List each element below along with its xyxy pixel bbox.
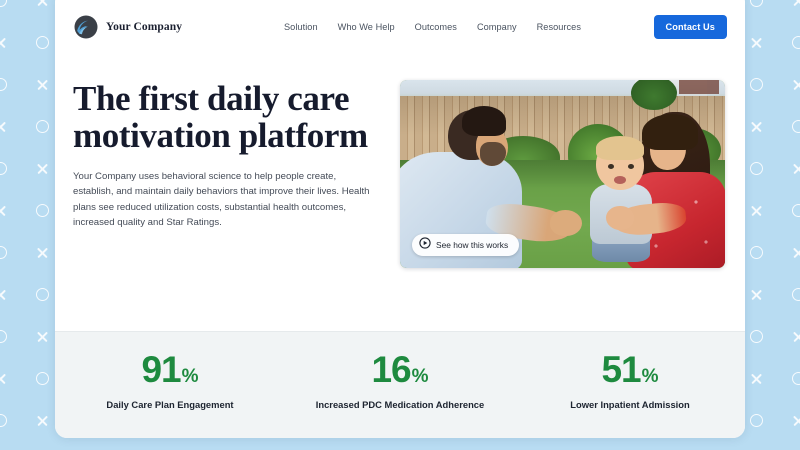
pattern-cross-icon (750, 372, 763, 385)
pattern-cross-icon (0, 36, 7, 49)
play-circle-icon (419, 236, 431, 254)
site-header: Your Company Solution Who We Help Outcom… (55, 0, 745, 53)
stat-unit: % (642, 366, 659, 387)
pattern-cross-icon (792, 78, 800, 91)
pattern-circle-icon (36, 36, 49, 49)
nav-item-resources[interactable]: Resources (537, 22, 581, 32)
page-title: The first daily care motivation platform (73, 80, 385, 155)
pattern-cross-icon (750, 36, 763, 49)
contact-us-button[interactable]: Contact Us (654, 15, 728, 39)
pattern-cross-icon (36, 78, 49, 91)
pattern-circle-icon (36, 288, 49, 301)
pattern-circle-icon (750, 330, 763, 343)
stat-number: 51 (601, 349, 640, 390)
brand-name: Your Company (106, 21, 182, 33)
stat-label: Lower Inpatient Admission (540, 397, 720, 412)
pattern-cross-icon (36, 0, 49, 7)
pattern-cross-icon (36, 414, 49, 427)
stat-card-inpatient-admission: 51% Lower Inpatient Admission (540, 351, 720, 412)
stat-unit: % (182, 366, 199, 387)
pattern-cross-icon (792, 0, 800, 7)
pattern-circle-icon (792, 372, 800, 385)
pattern-circle-icon (750, 246, 763, 259)
pattern-cross-icon (36, 162, 49, 175)
pattern-circle-icon (0, 414, 7, 427)
pattern-circle-icon (0, 330, 7, 343)
pattern-cross-icon (36, 330, 49, 343)
pattern-circle-icon (750, 414, 763, 427)
photo-roof (679, 80, 719, 94)
pattern-cross-icon (36, 246, 49, 259)
stat-number: 16 (371, 349, 410, 390)
hero-section: The first daily care motivation platform… (55, 53, 745, 268)
pattern-cross-icon (750, 120, 763, 133)
pattern-cross-icon (750, 204, 763, 217)
pattern-circle-icon (750, 78, 763, 91)
pattern-circle-icon (0, 246, 7, 259)
see-how-this-works-label: See how this works (436, 240, 508, 250)
pattern-cross-icon (0, 120, 7, 133)
circle-swoosh-logo-icon (73, 14, 99, 40)
stat-unit: % (412, 366, 429, 387)
pattern-circle-icon (792, 288, 800, 301)
stat-label: Daily Care Plan Engagement (80, 397, 260, 412)
hero-media-column: See how this works (400, 80, 725, 268)
stats-band: 91% Daily Care Plan Engagement 16% Incre… (55, 331, 745, 438)
pattern-circle-icon (0, 78, 7, 91)
pattern-circle-icon (0, 162, 7, 175)
nav-item-outcomes[interactable]: Outcomes (415, 22, 457, 32)
pattern-cross-icon (0, 372, 7, 385)
pattern-circle-icon (750, 0, 763, 7)
pattern-cross-icon (792, 246, 800, 259)
photo-baby-hair (596, 136, 644, 160)
main-navigation: Solution Who We Help Outcomes Company Re… (284, 22, 581, 32)
pattern-circle-icon (36, 120, 49, 133)
stat-label: Increased PDC Medication Adherence (310, 397, 490, 412)
pattern-cross-icon (792, 162, 800, 175)
stat-number: 91 (141, 349, 180, 390)
nav-item-solution[interactable]: Solution (284, 22, 318, 32)
page-card: Your Company Solution Who We Help Outcom… (55, 0, 745, 438)
stat-card-engagement: 91% Daily Care Plan Engagement (80, 351, 260, 412)
photo-mother-hair (642, 114, 698, 150)
pattern-cross-icon (792, 414, 800, 427)
pattern-circle-icon (792, 120, 800, 133)
see-how-this-works-button[interactable]: See how this works (412, 234, 519, 256)
pattern-cross-icon (0, 288, 7, 301)
stat-card-pdc-adherence: 16% Increased PDC Medication Adherence (310, 351, 490, 412)
pattern-cross-icon (792, 330, 800, 343)
pattern-circle-icon (750, 162, 763, 175)
hero-text-column: The first daily care motivation platform… (73, 80, 385, 268)
pattern-circle-icon (792, 204, 800, 217)
stat-value: 51% (540, 351, 720, 388)
photo-father-hand (550, 210, 582, 236)
stat-value: 91% (80, 351, 260, 388)
hero-video-thumbnail[interactable]: See how this works (400, 80, 725, 268)
pattern-circle-icon (36, 372, 49, 385)
nav-item-company[interactable]: Company (477, 22, 517, 32)
pattern-circle-icon (792, 36, 800, 49)
pattern-cross-icon (0, 204, 7, 217)
photo-mother-hand (606, 206, 634, 230)
photo-baby-mouth (614, 176, 626, 184)
photo-father-hair (462, 106, 506, 136)
pattern-circle-icon (36, 204, 49, 217)
pattern-circle-icon (0, 0, 7, 7)
photo-baby-eye-left (608, 164, 614, 169)
brand-logo[interactable]: Your Company (73, 14, 182, 40)
pattern-cross-icon (750, 288, 763, 301)
photo-baby-eye-right (628, 164, 634, 169)
hero-description: Your Company uses behavioral science to … (73, 169, 373, 231)
nav-item-who-we-help[interactable]: Who We Help (338, 22, 395, 32)
stat-value: 16% (310, 351, 490, 388)
